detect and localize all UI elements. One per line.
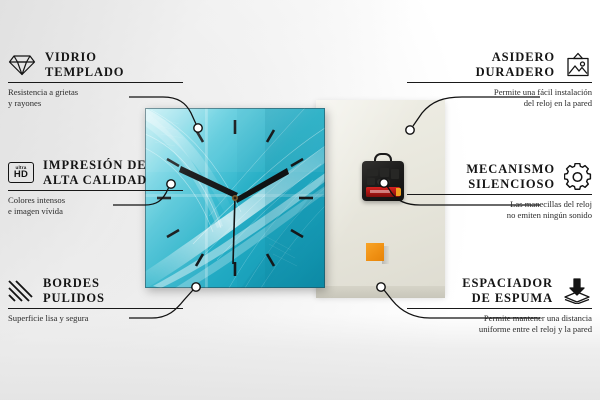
clock-mechanism [362,159,404,201]
hanging-frame-icon [564,52,592,78]
feature-divider [407,308,592,309]
feature-espaciador-de-espuma: ESPACIADOR DE ESPUMA Permite mantener un… [407,276,592,335]
feature-divider [407,194,592,195]
infographic-canvas: VIDRIO TEMPLADO Resistencia a grietas y … [0,0,600,400]
feature-subtitle-line1: Resistencia a grietas [8,87,183,98]
feature-impresion-alta-calidad: ultra HD IMPRESIÓN DE ALTA CALIDAD Color… [8,158,183,217]
feature-title-line1: ESPACIADOR [462,276,553,291]
feature-subtitle-line1: Las manecillas del reloj [407,199,592,210]
battery-label-stripe [370,190,390,193]
battery [366,187,400,197]
feature-title-line1: MECANISMO [466,162,555,177]
feature-header: ASIDERO DURADERO [407,50,592,79]
feature-divider [8,308,183,309]
mechanism-detail [367,178,375,185]
ultra-hd-large-text: HD [14,170,28,180]
feature-subtitle-line2: no emiten ningún sonido [407,210,592,221]
mechanism-body [362,161,404,201]
arrow-down-layers-icon [562,278,592,304]
feature-divider [407,82,592,83]
feature-title-line1: IMPRESIÓN DE [43,158,147,173]
feature-subtitle: Superficie lisa y segura [8,313,183,324]
feature-header: MECANISMO SILENCIOSO [407,162,592,191]
feature-title: ASIDERO DURADERO [476,50,555,79]
feature-title: VIDRIO TEMPLADO [45,50,124,79]
feature-header: VIDRIO TEMPLADO [8,50,183,79]
feature-subtitle-line2: uniforme entre el reloj y la pared [407,324,592,335]
feature-title-line1: ASIDERO [476,50,555,65]
feature-title-line2: ALTA CALIDAD [43,173,147,188]
feature-subtitle-line1: Colores intensos [8,195,183,206]
mechanism-detail [380,168,389,177]
ultra-hd-badge-icon: ultra HD [8,162,34,183]
feature-divider [8,82,183,83]
diamond-icon [8,53,36,77]
feature-subtitle: Colores intensos e imagen vívida [8,195,183,217]
battery-positive-cap [396,188,401,196]
product-group [140,100,445,300]
feature-subtitle-line1: Permite una fácil instalación [407,87,592,98]
mechanism-detail [367,169,378,176]
feature-subtitle-line1: Superficie lisa y segura [8,313,183,324]
mechanism-detail [377,179,390,185]
feature-mecanismo-silencioso: MECANISMO SILENCIOSO Las manecillas del … [407,162,592,221]
feature-divider [8,190,183,191]
feature-title-line2: DE ESPUMA [462,291,553,306]
feature-header: ultra HD IMPRESIÓN DE ALTA CALIDAD [8,158,183,187]
feature-title: ESPACIADOR DE ESPUMA [462,276,553,305]
feature-subtitle-line2: del reloj en la pared [407,98,592,109]
feature-title-line1: BORDES [43,276,105,291]
feature-title: BORDES PULIDOS [43,276,105,305]
feature-bordes-pulidos: BORDES PULIDOS Superficie lisa y segura [8,276,183,324]
diagonal-lines-icon [8,279,34,303]
feature-subtitle: Permite una fácil instalación del reloj … [407,87,592,109]
feature-title: MECANISMO SILENCIOSO [466,162,555,191]
feature-title-line2: DURADERO [476,65,555,80]
mechanism-detail [391,169,399,179]
feature-title-line2: TEMPLADO [45,65,124,80]
feature-subtitle: Las manecillas del reloj no emiten ningú… [407,199,592,221]
feature-header: BORDES PULIDOS [8,276,183,305]
feature-asidero-duradero: ASIDERO DURADERO Permite una fácil insta… [407,50,592,109]
feature-subtitle-line2: e imagen vívida [8,206,183,217]
feature-title-line2: SILENCIOSO [466,177,555,192]
feature-subtitle-line1: Permite mantener una distancia [407,313,592,324]
feature-subtitle-line2: y rayones [8,98,183,109]
feature-vidrio-templado: VIDRIO TEMPLADO Resistencia a grietas y … [8,50,183,109]
feature-subtitle: Permite mantener una distancia uniforme … [407,313,592,335]
foam-spacer [366,243,384,261]
gear-icon [564,163,592,191]
feature-title-line1: VIDRIO [45,50,124,65]
feature-header: ESPACIADOR DE ESPUMA [407,276,592,305]
feature-title-line2: PULIDOS [43,291,105,306]
feature-title: IMPRESIÓN DE ALTA CALIDAD [43,158,147,187]
feature-subtitle: Resistencia a grietas y rayones [8,87,183,109]
